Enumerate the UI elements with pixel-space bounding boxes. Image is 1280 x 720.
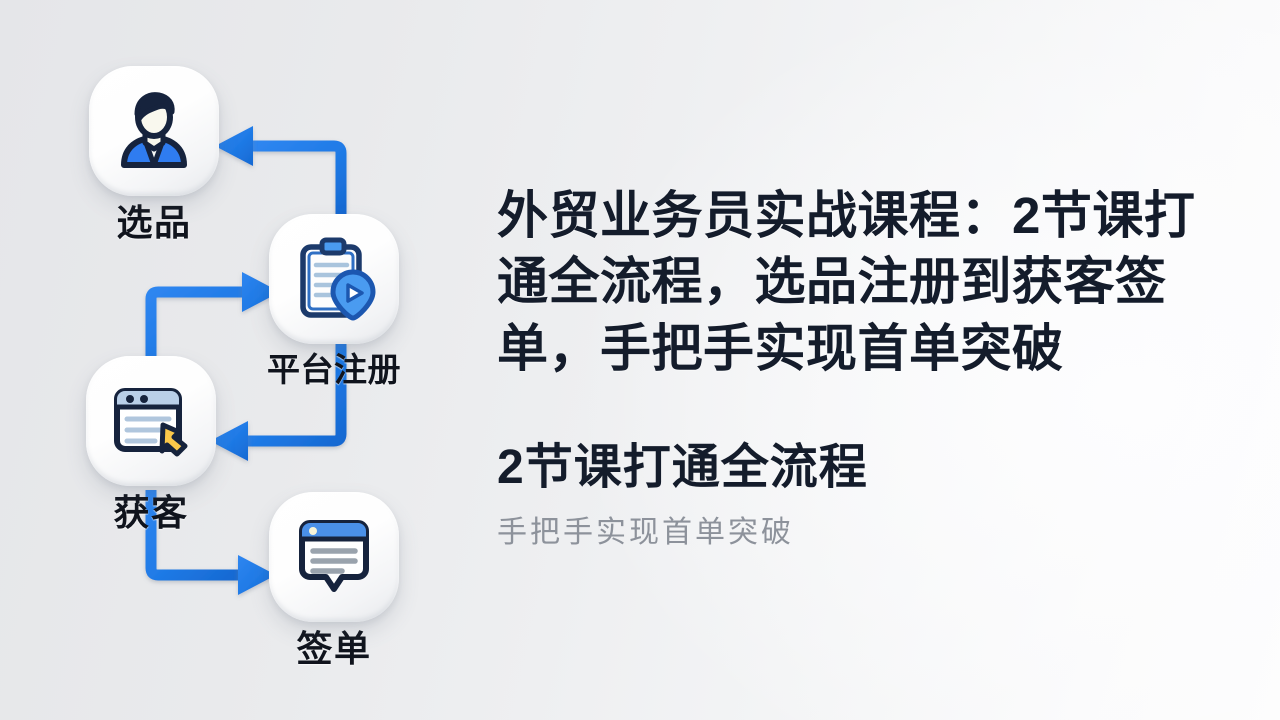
sub-copy: 手把手实现首单突破	[497, 516, 1239, 549]
person-businessman-icon	[108, 85, 200, 177]
flow-node-huoke[interactable]: 获客	[82, 356, 220, 531]
subheading: 2节课打通全流程	[497, 442, 1239, 495]
page-title: 外贸业务员实战课程：2节课打通全流程，选品注册到获客签单，手把手实现首单突破	[497, 183, 1239, 382]
arrow-connectors	[0, 0, 480, 720]
flow-node-label: 签单	[296, 631, 371, 667]
flow-node-label: 选品	[116, 205, 191, 241]
flow-node-qiandan[interactable]: 签单	[265, 492, 403, 667]
clipboard-location-pin-icon	[287, 232, 381, 326]
flow-node-pingtai[interactable]: 平台注册	[265, 214, 403, 386]
speech-bubble-document-icon	[288, 511, 380, 603]
flow-node-label: 平台注册	[267, 353, 401, 386]
icon-tile-qiandan	[269, 492, 399, 622]
icon-tile-huoke	[86, 356, 216, 486]
arrow-pingtai-to-xuanpin	[253, 146, 341, 214]
icon-tile-pingtai	[269, 214, 399, 344]
poster-canvas: 选品	[0, 0, 1280, 720]
browser-window-cursor-icon	[105, 375, 197, 467]
copy-block: 外贸业务员实战课程：2节课打通全流程，选品注册到获客签单，手把手实现首单突破 2…	[497, 183, 1239, 549]
arrow-huoke-to-pingtai	[151, 292, 242, 356]
flow-node-label: 获客	[113, 495, 188, 531]
icon-tile-xuanpin	[89, 66, 219, 196]
flow-node-xuanpin[interactable]: 选品	[85, 66, 223, 241]
workflow-diagram: 选品	[0, 0, 480, 720]
